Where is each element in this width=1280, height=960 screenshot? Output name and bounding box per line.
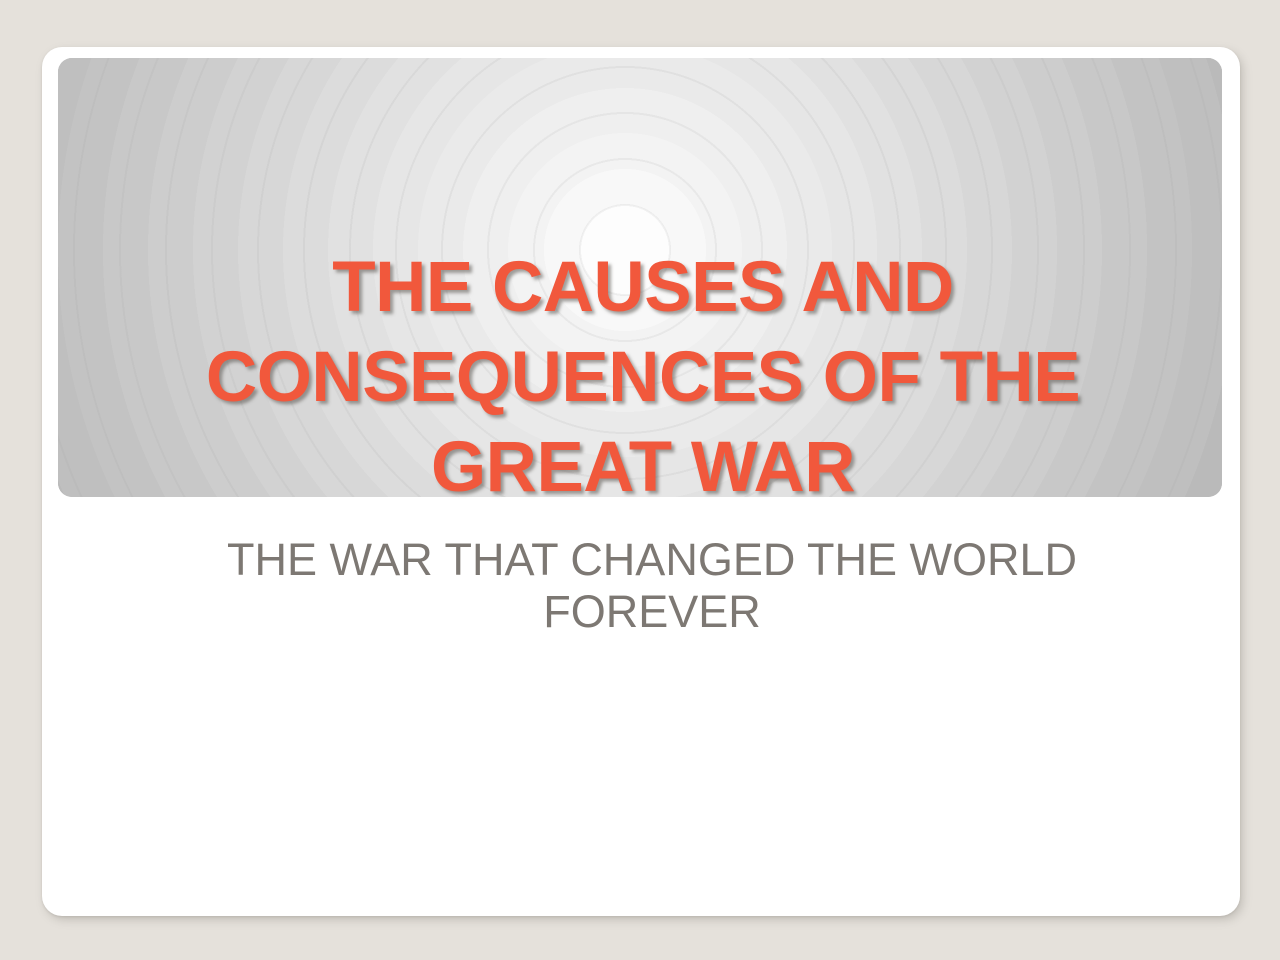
- slide-card[interactable]: THE CAUSES AND CONSEQUENCES OF THE GREAT…: [42, 47, 1240, 916]
- slide-subtitle: THE WAR THAT CHANGED THE WORLD FOREVER: [147, 534, 1157, 638]
- slide-title: THE CAUSES AND CONSEQUENCES OF THE GREAT…: [100, 243, 1186, 513]
- slide-body-placeholder[interactable]: [100, 647, 1186, 897]
